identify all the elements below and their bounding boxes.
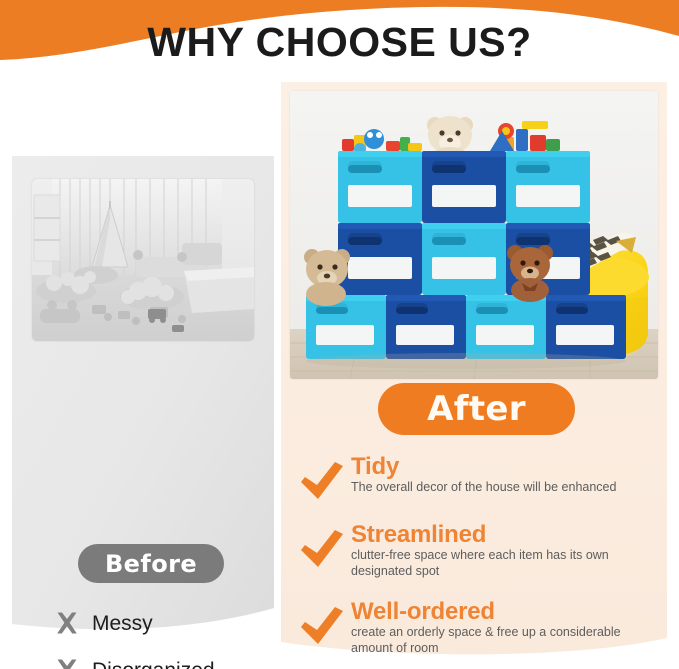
check-mark-icon <box>299 454 351 502</box>
list-item: Well-ordered create an orderly space & f… <box>299 599 665 656</box>
list-item-description: clutter-free space where each item has i… <box>351 547 665 579</box>
list-item-title: Streamlined <box>351 521 486 548</box>
list-item-label: Disorganized <box>92 660 215 669</box>
after-panel: After Tidy The overall decor of the hous… <box>281 82 667 660</box>
x-mark-icon <box>54 610 80 636</box>
before-badge-label: Before <box>105 550 197 578</box>
bin-row-bottom <box>306 295 626 359</box>
list-item-title: Tidy <box>351 453 399 480</box>
page-title: WHY CHOOSE US? <box>0 19 679 66</box>
list-item-label: Messy <box>92 613 153 634</box>
list-item-title: Well-ordered <box>351 598 495 625</box>
messy-playroom-image <box>32 179 254 341</box>
storage-bin <box>506 151 590 223</box>
storage-bin <box>338 151 422 223</box>
storage-bin <box>546 295 626 359</box>
check-mark-icon <box>299 599 351 647</box>
bin-row-top <box>338 151 590 223</box>
after-photo <box>290 91 658 379</box>
before-badge: Before <box>78 544 224 583</box>
storage-bin <box>466 295 546 359</box>
list-item: Streamlined clutter-free space where eac… <box>299 522 665 579</box>
after-list: Tidy The overall decor of the house will… <box>299 454 665 669</box>
storage-bin <box>386 295 466 359</box>
after-badge: After <box>378 383 575 435</box>
before-list: Messy Disorganized All over the place <box>54 608 294 669</box>
storage-bin <box>422 151 506 223</box>
organized-storage-bins-image <box>290 91 658 379</box>
storage-bin <box>422 223 506 295</box>
before-photo <box>32 179 254 341</box>
list-item: Disorganized <box>54 655 294 669</box>
after-badge-label: After <box>427 389 526 429</box>
teddy-bear-left <box>304 249 350 306</box>
infographic-canvas: WHY CHOOSE US? <box>0 0 679 669</box>
x-mark-icon <box>54 657 80 669</box>
before-panel: Before Messy Disorganized <box>12 156 274 642</box>
check-mark-icon <box>299 522 351 570</box>
bin-row-middle <box>338 223 590 295</box>
list-item-description: The overall decor of the house will be e… <box>351 479 665 495</box>
list-item-description: create an orderly space & free up a cons… <box>351 624 665 656</box>
list-item: Tidy The overall decor of the house will… <box>299 454 665 502</box>
teddy-bear-right <box>507 245 553 302</box>
storage-bin <box>338 223 422 295</box>
list-item: Messy <box>54 608 294 638</box>
